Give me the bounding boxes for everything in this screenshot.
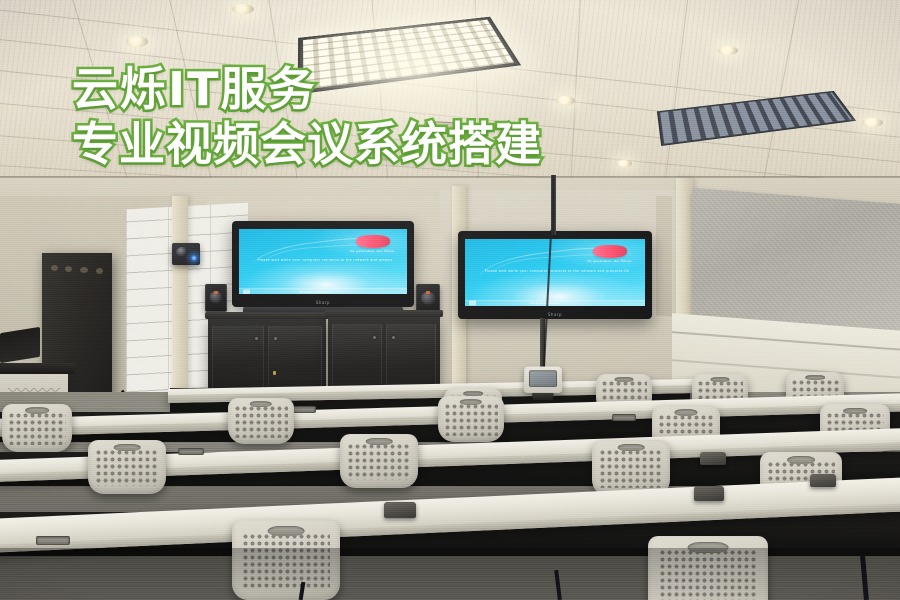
downlight-icon [126, 36, 148, 47]
cable-grommet [178, 448, 204, 455]
wall-camera [172, 243, 200, 265]
conference-room-photo: My generation. Our future. Please wait w… [0, 0, 900, 600]
chair-handle [114, 444, 141, 451]
downlight-icon [718, 46, 738, 55]
screen-taskbar: Windows Installation [465, 300, 645, 306]
chair-handle [805, 375, 825, 380]
touch-panel-screen[interactable] [529, 370, 557, 387]
cable-grommet [36, 536, 70, 545]
chair-perforation [599, 449, 663, 488]
chair-perforation [234, 405, 288, 437]
downlight-icon [862, 118, 883, 127]
task-chair[interactable] [340, 434, 418, 488]
taskbar-label: Windows Installation [299, 290, 330, 294]
credenza-top [325, 310, 443, 317]
chair-handle [460, 399, 482, 405]
wall-reveal [656, 195, 672, 316]
taskbar-start-icon [243, 289, 250, 294]
speaker-led [426, 291, 430, 294]
task-chair[interactable] [88, 440, 166, 494]
chair-handle [25, 407, 49, 413]
task-chair[interactable] [438, 396, 504, 442]
display-mount-pole [551, 175, 556, 235]
chair-handle [614, 377, 633, 382]
screen-message-text: Please wait while your computer connects… [485, 269, 629, 273]
control-touch-panel[interactable] [524, 367, 563, 393]
desk-microphone [810, 474, 836, 487]
tv-brand-label: Sharp [548, 312, 562, 317]
chair-handle [268, 526, 305, 536]
cable-grommet [612, 414, 636, 421]
table-shadow [0, 548, 900, 600]
task-chair[interactable] [228, 398, 294, 444]
credenza-top [205, 312, 329, 319]
camera-status-led [191, 255, 197, 261]
screen-logo: My generation. Our future. [587, 245, 632, 263]
chair-handle [250, 401, 272, 407]
cable-grommet [292, 406, 316, 413]
speaker-led [214, 291, 218, 294]
lectern-worksurface [0, 363, 74, 374]
touch-panel-stand [532, 393, 554, 400]
chair-perforation [444, 403, 498, 435]
logo-mark-icon [593, 245, 627, 258]
chair-handle [674, 409, 697, 415]
screen-taskbar: Windows Installation [239, 288, 407, 294]
screen-logo: My generation. Our future. [350, 235, 395, 253]
loudspeaker-left [205, 284, 227, 312]
screen-message-text: Please wait while your computer connects… [257, 258, 391, 262]
chair-perforation [8, 412, 65, 446]
display-screen-right: My generation. Our future. Please wait w… [465, 239, 645, 306]
flat-panel-display-right[interactable]: My generation. Our future. Please wait w… [458, 231, 652, 319]
downlight-icon [232, 4, 254, 14]
desk-microphone [384, 502, 416, 518]
taskbar-start-icon [469, 301, 476, 306]
screen-logo-text: My generation. Our future. [350, 250, 395, 253]
chair-handle [843, 408, 867, 415]
chair-perforation [347, 443, 411, 481]
downlight-icon [616, 160, 632, 167]
chair-perforation [95, 449, 159, 487]
chair-handle [787, 456, 815, 464]
flat-panel-display-left[interactable]: My generation. Our future. Please wait w… [232, 221, 414, 307]
logo-mark-icon [356, 235, 390, 248]
ceiling-vent [356, 151, 394, 160]
task-chair[interactable] [2, 404, 72, 452]
chair-handle [710, 377, 729, 382]
display-screen-left: My generation. Our future. Please wait w… [239, 229, 407, 294]
downlight-icon [556, 96, 575, 105]
desk-microphone [700, 452, 726, 465]
camera-lens-icon [176, 247, 188, 257]
chair-handle [618, 444, 645, 451]
chair-handle [366, 438, 393, 445]
tv-brand-label: Sharp [316, 300, 330, 305]
screen-logo-text: My generation. Our future. [587, 260, 632, 263]
desk-microphone [694, 486, 724, 501]
podium-monitor[interactable] [0, 327, 40, 363]
